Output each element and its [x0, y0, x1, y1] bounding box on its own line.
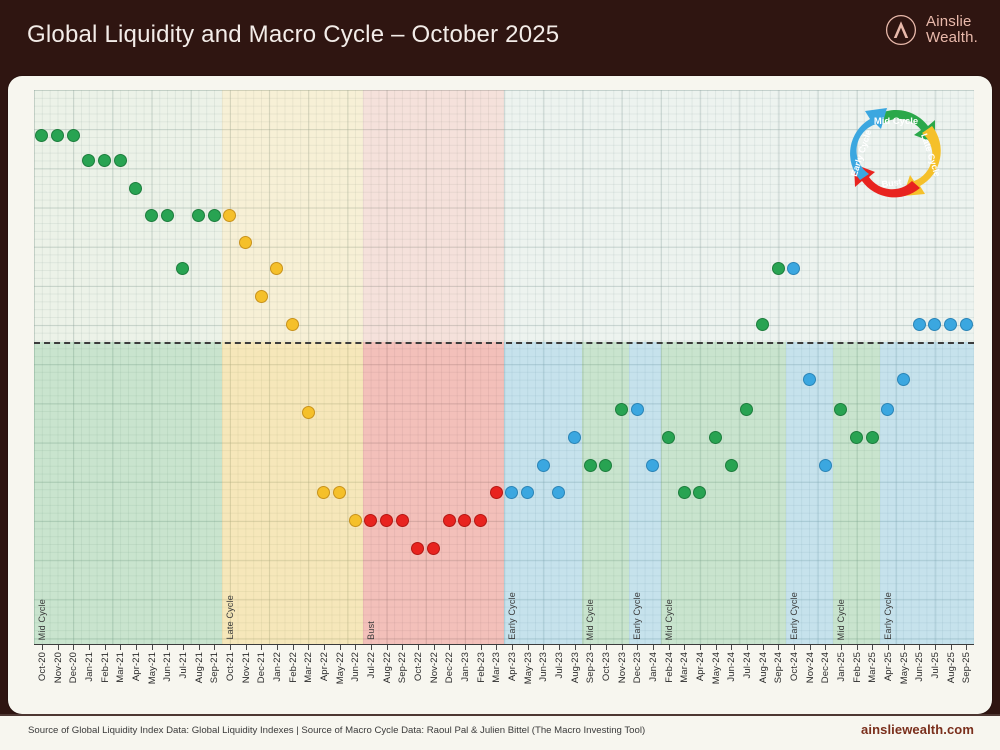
x-axis-tick-label: Oct-23	[601, 652, 612, 681]
axis-tick	[622, 645, 623, 650]
data-point[interactable]	[568, 431, 581, 444]
x-axis-tick-label: Jan-22	[272, 652, 283, 682]
x-axis-tick-label: Jan-24	[648, 652, 659, 682]
axis-tick	[58, 645, 59, 650]
x-axis-tick-label: Mar-21	[115, 652, 126, 683]
phase-band-bust: Bust	[363, 342, 504, 644]
data-point[interactable]	[474, 514, 487, 527]
axis-tick	[434, 645, 435, 650]
axis-tick	[951, 645, 952, 650]
x-axis-tick-label: Jan-23	[460, 652, 471, 682]
x-axis-tick-label: Jul-22	[366, 652, 377, 678]
axis-tick	[590, 645, 591, 650]
data-point[interactable]	[161, 209, 174, 222]
data-point[interactable]	[866, 431, 879, 444]
data-point[interactable]	[537, 459, 550, 472]
axis-tick	[684, 645, 685, 650]
ainslie-a-logo-icon	[885, 14, 917, 46]
x-axis-tick-label: Apr-24	[695, 652, 706, 681]
x-axis-tick-label: Nov-22	[429, 652, 440, 683]
x-axis-tick-label: Jul-25	[930, 652, 941, 678]
phase-band-label: Bust	[366, 621, 376, 640]
axis-tick	[465, 645, 466, 650]
data-point[interactable]	[380, 514, 393, 527]
data-point[interactable]	[427, 542, 440, 555]
zero-reference-line	[34, 342, 974, 344]
data-point[interactable]	[772, 262, 785, 275]
x-axis-tick-label: Aug-24	[758, 652, 769, 683]
x-axis-tick-label: Jul-24	[742, 652, 753, 678]
x-axis-tick-label: Apr-23	[507, 652, 518, 681]
data-point[interactable]	[443, 514, 456, 527]
x-axis-tick-label: Nov-23	[617, 652, 628, 683]
x-axis-labels: Oct-20Nov-20Dec-20Jan-21Feb-21Mar-21Apr-…	[34, 652, 974, 714]
x-axis-tick-label: Oct-24	[789, 652, 800, 681]
page-title: Global Liquidity and Macro Cycle – Octob…	[27, 21, 559, 49]
axis-tick	[841, 645, 842, 650]
phase-band-upper-tint	[222, 90, 363, 342]
data-point[interactable]	[286, 318, 299, 331]
x-axis-tick-label: Apr-21	[131, 652, 142, 681]
data-point[interactable]	[51, 129, 64, 142]
x-axis-tick-label: Jun-22	[350, 652, 361, 682]
x-axis-tick-label: Apr-25	[883, 652, 894, 681]
axis-tick	[152, 645, 153, 650]
x-axis-tick-label: Aug-25	[946, 652, 957, 683]
x-axis-tick-label: May-24	[711, 652, 722, 684]
axis-tick	[324, 645, 325, 650]
phase-band-label: Mid Cycle	[836, 599, 846, 640]
axis-tick	[167, 645, 168, 650]
x-axis-tick-label: Oct-20	[37, 652, 48, 681]
data-point[interactable]	[114, 154, 127, 167]
x-axis-tick-label: Mar-25	[867, 652, 878, 683]
data-point[interactable]	[302, 406, 315, 419]
data-point[interactable]	[850, 431, 863, 444]
axis-tick	[449, 645, 450, 650]
phase-band-mid-cycle: Mid Cycle	[34, 342, 222, 644]
axis-tick	[89, 645, 90, 650]
data-point[interactable]	[944, 318, 957, 331]
x-axis-tick-label: Dec-22	[444, 652, 455, 683]
x-axis-tick-label: Sep-22	[397, 652, 408, 683]
axis-tick	[559, 645, 560, 650]
axis-tick	[606, 645, 607, 650]
x-axis-tick-label: May-23	[523, 652, 534, 684]
wheel-label-bust: Bust	[881, 177, 902, 190]
axis-tick	[512, 645, 513, 650]
axis-tick	[371, 645, 372, 650]
axis-tick	[308, 645, 309, 650]
x-axis-tick-label: Nov-20	[53, 652, 64, 683]
plot-area: Mid CycleLate CycleBustEarly CycleMid Cy…	[34, 90, 974, 644]
x-axis-tick-label: Oct-22	[413, 652, 424, 681]
x-axis-tick-label: Dec-23	[632, 652, 643, 683]
phase-band-mid-cycle: Mid Cycle	[833, 342, 880, 644]
axis-tick	[778, 645, 779, 650]
phase-band-mid-cycle: Mid Cycle	[582, 342, 629, 644]
axis-tick	[575, 645, 576, 650]
phase-band-label: Mid Cycle	[37, 599, 47, 640]
header-bar: Global Liquidity and Macro Cycle – Octob…	[0, 0, 1000, 76]
phase-band-early-cycle: Early Cycle	[786, 342, 833, 644]
data-point[interactable]	[913, 318, 926, 331]
data-point[interactable]	[819, 459, 832, 472]
axis-tick	[105, 645, 106, 650]
x-axis-tick-label: Aug-21	[194, 652, 205, 683]
axis-tick	[214, 645, 215, 650]
axis-tick	[716, 645, 717, 650]
axis-tick	[637, 645, 638, 650]
axis-tick	[183, 645, 184, 650]
data-point[interactable]	[129, 182, 142, 195]
x-axis-tick-label: Aug-23	[570, 652, 581, 683]
axis-tick	[935, 645, 936, 650]
data-point[interactable]	[396, 514, 409, 527]
x-axis-tick-label: May-21	[147, 652, 158, 684]
axis-tick	[528, 645, 529, 650]
phase-band-early-cycle: Early Cycle	[880, 342, 974, 644]
axis-tick	[810, 645, 811, 650]
x-axis-tick-label: Oct-21	[225, 652, 236, 681]
phase-band-label: Early Cycle	[507, 592, 517, 640]
x-axis-tick-label: Sep-21	[209, 652, 220, 683]
axis-tick	[293, 645, 294, 650]
x-axis-tick-label: Feb-24	[664, 652, 675, 683]
x-axis-tick-label: May-25	[899, 652, 910, 684]
data-point[interactable]	[662, 431, 675, 444]
x-axis-tick-label: Mar-23	[491, 652, 502, 683]
website-link[interactable]: ainsliewealth.com	[861, 722, 974, 737]
axis-tick	[355, 645, 356, 650]
axis-tick	[199, 645, 200, 650]
axis-tick	[904, 645, 905, 650]
axis-tick	[42, 645, 43, 650]
phase-band-label: Early Cycle	[883, 592, 893, 640]
data-point[interactable]	[599, 459, 612, 472]
x-axis-tick-label: Mar-22	[303, 652, 314, 683]
x-axis-tick-label: Nov-24	[805, 652, 816, 683]
phase-band-label: Early Cycle	[789, 592, 799, 640]
x-axis-tick-label: Dec-24	[820, 652, 831, 683]
x-axis-tick-label: Apr-22	[319, 652, 330, 681]
source-note: Source of Global Liquidity Index Data: G…	[28, 725, 645, 736]
chart-card: Mid CycleLate CycleBustEarly CycleMid Cy…	[8, 76, 992, 714]
brand-logo: Ainslie Wealth.	[885, 14, 978, 46]
x-axis-tick-label: Feb-23	[476, 652, 487, 683]
axis-tick	[653, 645, 654, 650]
axis-tick	[857, 645, 858, 650]
x-axis-tick-label: Sep-24	[773, 652, 784, 683]
brand-wordmark: Ainslie Wealth.	[926, 14, 978, 46]
axis-tick	[246, 645, 247, 650]
data-point[interactable]	[349, 514, 362, 527]
x-axis-tick-label: Jan-21	[84, 652, 95, 682]
axis-tick	[888, 645, 889, 650]
axis-tick	[872, 645, 873, 650]
macro-cycle-wheel: Mid Cycle Late Cycle Bust Early Cycle	[836, 96, 956, 208]
data-point[interactable]	[255, 290, 268, 303]
data-point[interactable]	[490, 486, 503, 499]
axis-tick	[794, 645, 795, 650]
data-point[interactable]	[725, 459, 738, 472]
brand-line-2: Wealth.	[926, 30, 978, 46]
axis-tick	[277, 645, 278, 650]
axis-tick	[919, 645, 920, 650]
phase-band-early-cycle: Early Cycle	[629, 342, 660, 644]
x-axis-tick-label: Nov-21	[241, 652, 252, 683]
data-point[interactable]	[709, 431, 722, 444]
axis-tick	[763, 645, 764, 650]
data-point[interactable]	[960, 318, 973, 331]
x-axis-tick-label: Dec-21	[256, 652, 267, 683]
phase-band-label: Mid Cycle	[664, 599, 674, 640]
x-axis-tick-label: Jun-23	[538, 652, 549, 682]
axis-tick	[387, 645, 388, 650]
axis-tick	[700, 645, 701, 650]
x-axis-tick-label: Jun-24	[726, 652, 737, 682]
axis-tick	[402, 645, 403, 650]
data-point[interactable]	[803, 373, 816, 386]
x-axis-tick-label: Dec-20	[68, 652, 79, 683]
axis-tick	[543, 645, 544, 650]
x-axis-tick-label: Jun-21	[162, 652, 173, 682]
axis-tick	[825, 645, 826, 650]
axis-tick	[966, 645, 967, 650]
brand-line-1: Ainslie	[926, 14, 978, 30]
axis-tick	[230, 645, 231, 650]
wheel-label-mid-cycle: Mid Cycle	[874, 116, 918, 127]
data-point[interactable]	[67, 129, 80, 142]
data-point[interactable]	[756, 318, 769, 331]
data-point[interactable]	[678, 486, 691, 499]
axis-tick	[340, 645, 341, 650]
footer-bar: Source of Global Liquidity Index Data: G…	[0, 714, 1000, 750]
data-point[interactable]	[928, 318, 941, 331]
x-axis-tick-label: Feb-25	[852, 652, 863, 683]
axis-tick	[731, 645, 732, 650]
footer-divider	[0, 714, 1000, 716]
axis-tick	[418, 645, 419, 650]
data-point[interactable]	[584, 459, 597, 472]
x-axis-tick-label: Sep-23	[585, 652, 596, 683]
data-point[interactable]	[239, 236, 252, 249]
x-axis-tick-label: Jul-21	[178, 652, 189, 678]
axis-tick	[669, 645, 670, 650]
axis-tick	[481, 645, 482, 650]
x-axis-tick-label: May-22	[335, 652, 346, 684]
data-point[interactable]	[897, 373, 910, 386]
axis-tick	[73, 645, 74, 650]
axis-tick	[261, 645, 262, 650]
x-axis-tick-label: Jun-25	[914, 652, 925, 682]
phase-band-label: Mid Cycle	[585, 599, 595, 640]
data-point[interactable]	[208, 209, 221, 222]
axis-tick	[747, 645, 748, 650]
x-axis-tick-label: Jan-25	[836, 652, 847, 682]
phase-band-upper-tint	[363, 90, 504, 342]
data-point[interactable]	[646, 459, 659, 472]
data-point[interactable]	[631, 403, 644, 416]
x-axis-tick-label: Sep-25	[961, 652, 972, 683]
data-point[interactable]	[98, 154, 111, 167]
liquidity-macro-cycle-infographic: Global Liquidity and Macro Cycle – Octob…	[0, 0, 1000, 750]
x-axis-tick-label: Feb-22	[288, 652, 299, 683]
x-axis-tick-label: Aug-22	[382, 652, 393, 683]
phase-band-label: Late Cycle	[225, 595, 235, 640]
x-axis-tick-label: Jul-23	[554, 652, 565, 678]
x-axis-tick-label: Feb-21	[100, 652, 111, 683]
axis-tick	[120, 645, 121, 650]
phase-band-label: Early Cycle	[632, 592, 642, 640]
axis-tick	[496, 645, 497, 650]
x-axis-tick-label: Mar-24	[679, 652, 690, 683]
axis-tick	[136, 645, 137, 650]
